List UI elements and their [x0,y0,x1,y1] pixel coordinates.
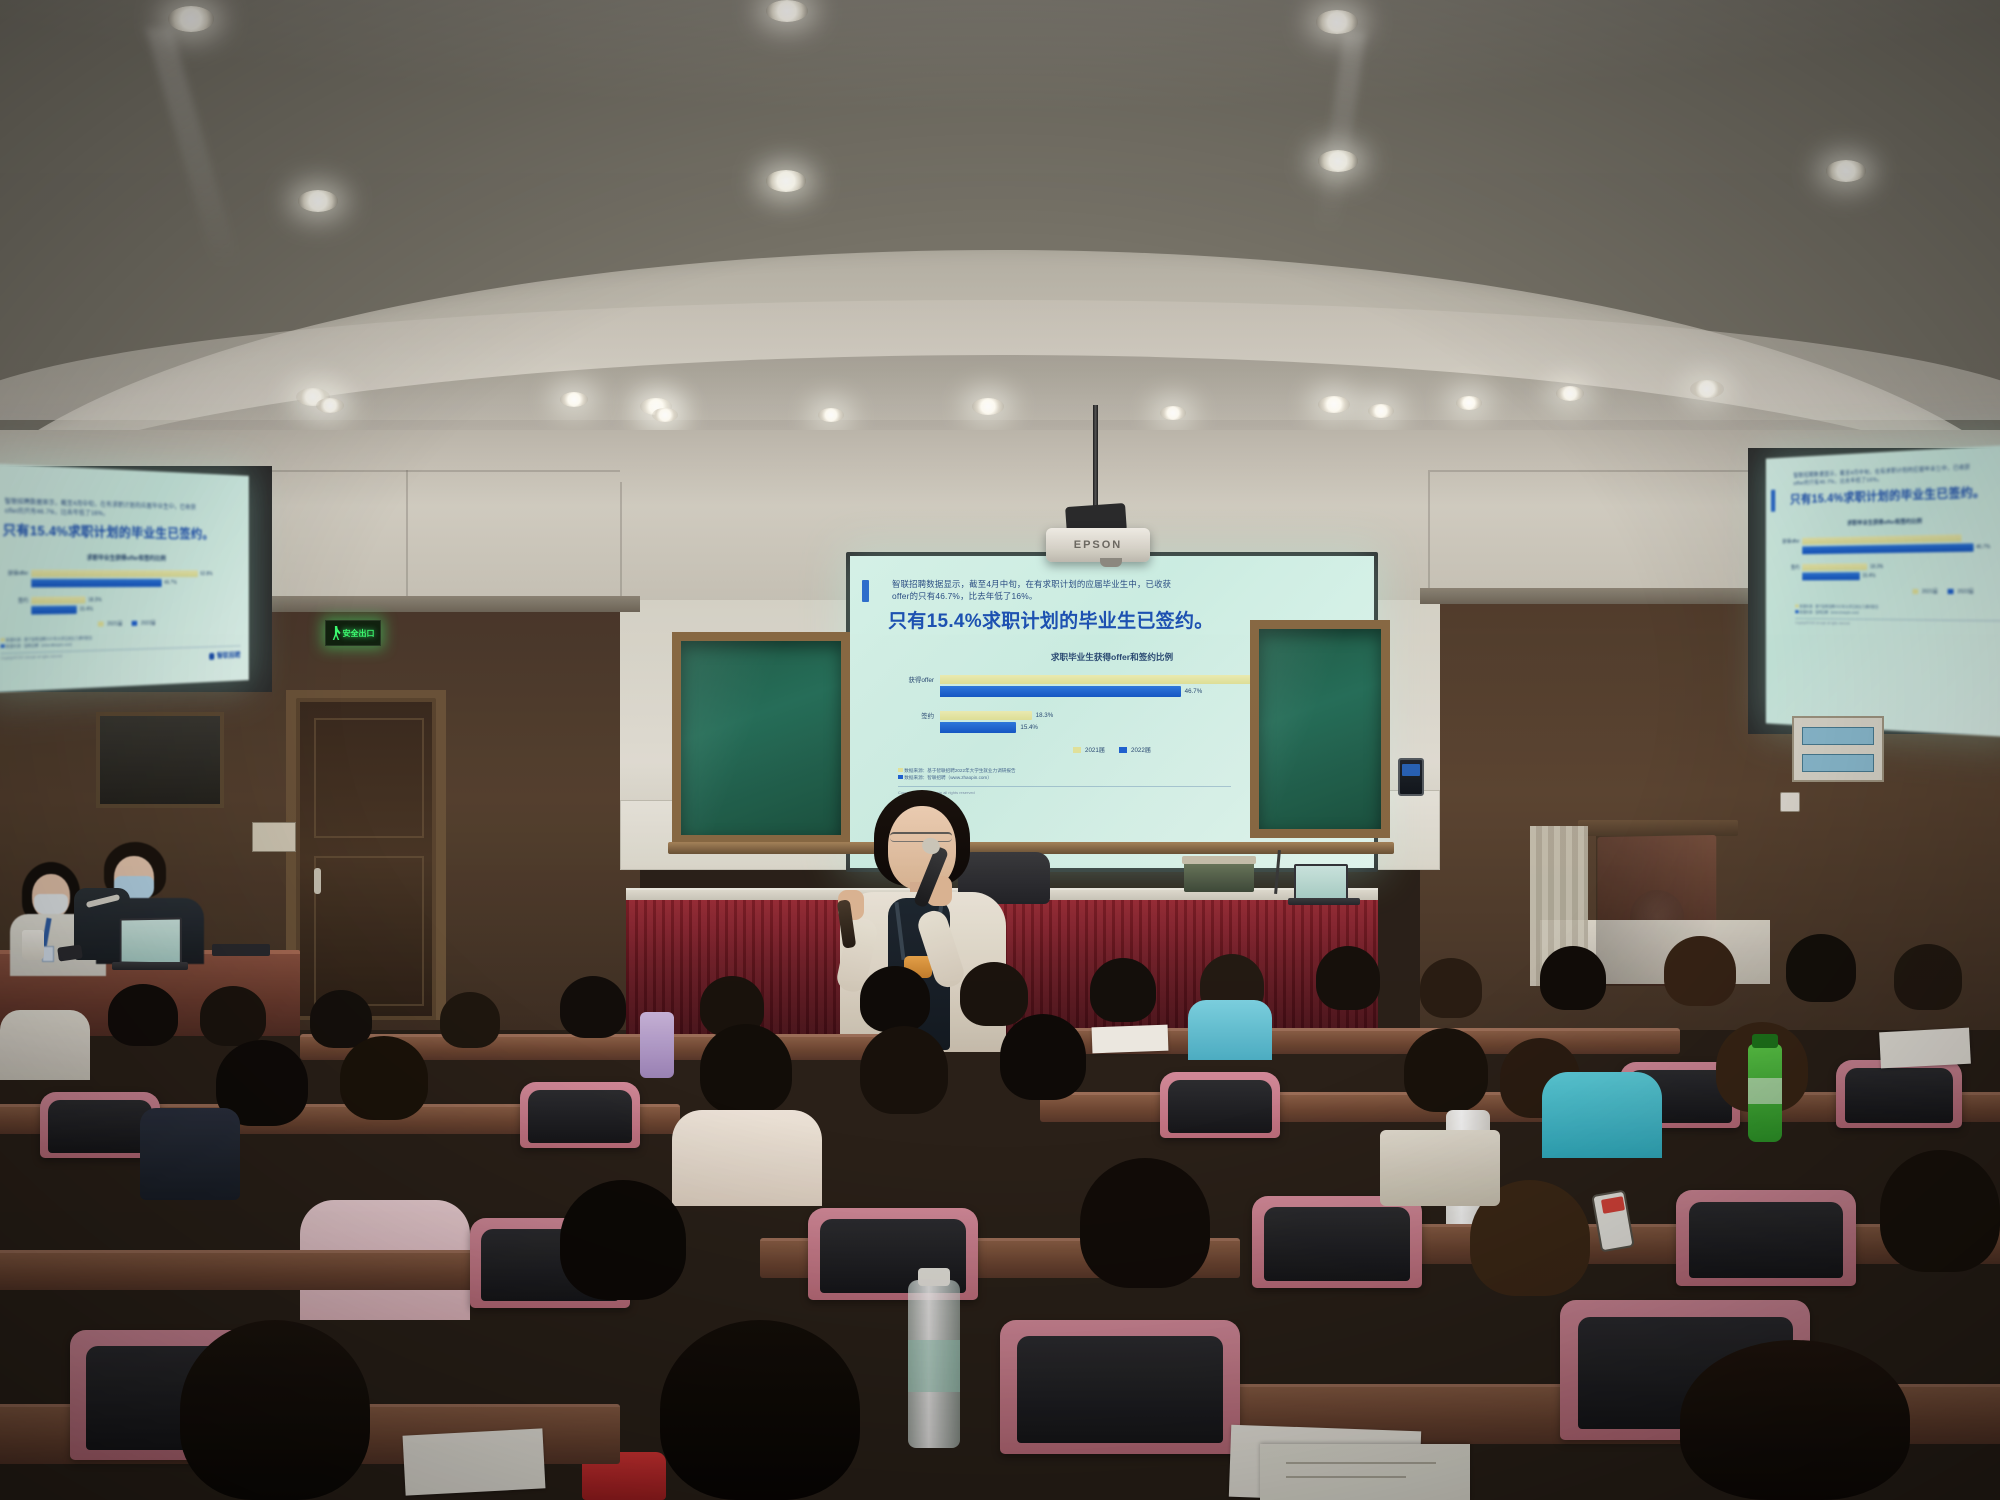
bar-category-label: 签约 [1774,564,1802,571]
audience-member [860,1026,948,1124]
wall-seam [620,482,622,612]
slide-chart-title: 求职毕业生获得offer和签约比例 [1774,515,2000,529]
staff-laptop-screen[interactable] [120,917,182,964]
bar-value: 15.4% [1862,573,1875,579]
auditorium-seat[interactable] [1836,1060,1962,1128]
notebook-line [1286,1476,1406,1478]
bar-category-label: 签约 [886,711,940,720]
slide-headline: 只有15.4%求职计划的毕业生已签约。 [3,519,241,543]
audience-member [560,976,626,1048]
slide-subtitle-line2: offer的只有46.7%，比去年低了16%。 [892,590,1348,602]
notebook-line [1286,1462,1436,1464]
legend-label: 2021届 [107,620,122,627]
speaker-glasses [890,832,952,842]
bar-value-2022-signed: 15.4% [1020,724,1038,731]
wall-seam [406,470,408,610]
audience-jacket [1188,1000,1272,1060]
bar-2021-offer [940,675,1253,684]
legend-swatch-2022 [1119,747,1127,753]
notice-line-2 [1802,754,1874,772]
ceiling-light [1160,406,1186,420]
water-bottle-label [908,1340,960,1392]
slide-subtitle-line1: 智联招聘数据显示，截至4月中旬，在有求职计划的应届毕业生中，已收获 [892,578,1348,590]
audience-member [1000,1014,1086,1110]
ceiling-light [1368,404,1394,418]
footnote-2: 数据来源：智联招聘（www.zhaopin.com） [904,775,992,780]
podium-sign [1578,820,1738,836]
books-stack-top [1182,856,1256,864]
ceiling-light [766,170,806,192]
audience-hoodie-cream [672,1110,822,1206]
staff-laptop-base[interactable] [112,962,188,970]
legend-entry-2022: 2022届 [1119,745,1151,754]
bar-category-label: 获得offer [1774,538,1802,545]
audience-hoodie-teal [1542,1072,1662,1158]
bar-category-label: 获得offer [1,570,32,577]
water-bottle-cap [918,1268,950,1286]
green-bottle-cap [1752,1034,1778,1048]
running-person-icon [332,626,341,640]
tote-bag [1380,1130,1500,1206]
audience-member [1080,1158,1210,1298]
slide-accent-bar [862,580,869,602]
slide-copyright: Copyright©2022 zhaopin all rights reserv… [1795,621,2000,629]
projector-lens [1100,558,1122,567]
bar-value: 46.7% [164,580,177,586]
ceiling-light [1556,386,1584,401]
ceiling-light [818,408,844,422]
legend-swatch-2021 [1073,747,1081,753]
projector-brand-label: EPSON [1074,539,1123,551]
legend-label: 2021届 [1922,588,1938,595]
audience-member [700,1024,792,1124]
right-slide: 智联招聘数据显示，截至4月中旬，在有求职计划的应届毕业生中，已收获 offer的… [1766,445,2000,738]
stage-laptop-screen[interactable] [1294,864,1348,902]
left-projection-screen: 智联招聘数据显示，截至4月中旬，在有求职计划的应届毕业生中，已收获 offer的… [0,463,249,692]
digital-display-screen [1402,764,1420,776]
left-slide: 智联招聘数据显示，截至4月中旬，在有求职计划的应届毕业生中，已收获 offer的… [0,463,249,692]
wall-notice-board [1792,716,1884,782]
bar-value: 15.4% [79,607,93,613]
left-slide-legend: 2021届 2022届 [1,618,241,630]
ceiling-light [1456,396,1482,410]
audience-member [1880,1150,2000,1280]
footnote: 数据来源：智联招聘（www.zhaopin.com） [1800,610,1862,614]
bar-value: 62.8% [200,571,212,577]
footnote: 数据来源：基于智联招聘2022年大学生就业力调研报告 [1800,605,1879,609]
wall-switch[interactable] [1780,792,1800,812]
ceiling-light [652,408,678,422]
audience-member [1540,946,1606,1020]
footnote-1: 数据来源：基于智联招聘2022年大学生就业力调研报告 [904,768,1015,773]
stage-laptop-base[interactable] [1288,898,1360,905]
projector-body: EPSON [1046,528,1150,562]
ceiling-light [1318,150,1358,172]
handout-paper [403,1428,546,1495]
green-bottle-label [1748,1078,1782,1104]
audience-member [108,984,178,1054]
desk-row-near [0,1250,530,1290]
door-panel-upper [314,718,424,838]
legend-entry-2021: 2021届 [1073,745,1105,754]
door-handle[interactable] [314,868,321,894]
bar-category-label: 签约 [1,597,32,605]
audience-member [1316,946,1380,1020]
auditorium-seat[interactable] [1000,1320,1240,1454]
door-side-window [96,712,224,808]
audience-member [340,1036,428,1130]
legend-label-2021: 2021届 [1085,745,1105,754]
emergency-exit-sign: 安全出口 [325,620,381,646]
legend-label: 2022届 [141,620,156,627]
ceiling-light [1826,160,1866,182]
footnote: 数据来源：智联招聘（www.zhaopin.com） [6,642,75,648]
audience-jacket [0,1010,90,1080]
handout-paper [1879,1028,1971,1069]
staff-coffee-cup [22,930,44,960]
ceiling-light [316,398,344,413]
bar-value: 18.3% [88,597,102,603]
ceiling-light [1690,380,1724,398]
auditorium-seat[interactable] [1160,1072,1280,1138]
handout-paper [1092,1025,1169,1054]
ceiling-light [168,6,214,32]
bar-2022-offer [940,686,1181,697]
lecture-hall-photo: 智联招聘数据显示，截至4月中旬，在有求职计划的应届毕业生中，已收获 offer的… [0,0,2000,1500]
notice-line-1 [1802,727,1874,745]
bar-2022-signed [940,722,1016,733]
exit-sign-text: 安全出口 [343,628,375,639]
audience-member [1664,936,1736,1016]
books-stack [1184,862,1254,892]
auditorium-seat[interactable] [520,1082,640,1148]
bar-value-2021-signed: 18.3% [1036,712,1054,719]
audience-member-foreground [1680,1340,1910,1500]
face-mask [34,894,68,914]
right-projection-screen: 智联招聘数据显示，截至4月中旬，在有求职计划的应届毕业生中，已收获 offer的… [1766,445,2000,738]
wall-notice-left [252,822,296,852]
left-slide-chart: 获得offer 62.8% 46.7% 签约 18.3% [1,570,241,615]
purple-bottle [640,1012,674,1078]
door-panel-lower [314,856,424,1006]
chalkboard-right [1250,620,1390,838]
ceiling-light [1316,10,1358,34]
auditorium-seat[interactable] [1252,1196,1422,1288]
ceiling-light [972,398,1004,415]
ceiling-light [1318,396,1350,413]
audience-member [1090,958,1156,1032]
backpack-on-desk [140,1108,240,1200]
right-slide-legend: 2021届 2022届 [1774,588,2000,595]
legend-label-2022: 2022届 [1131,745,1151,754]
bar-value: 18.3% [1870,564,1883,570]
left-slide-logo: 智联招聘 [209,650,240,661]
legend-label: 2022届 [1957,588,1973,595]
right-slide-chart: 获得offer 46.7% 签约 18.3% [1774,534,2000,581]
bar-category-label: 获得offer [886,675,940,684]
footnote: 数据来源：基于智联招聘2022年大学生就业力调研报告 [6,636,92,642]
logo-text: 智联招聘 [217,650,241,660]
audience-member [1894,944,1962,1020]
bar-2021-signed [940,711,1032,720]
audience-member [440,992,500,1056]
slide-chart-title: 求职毕业生获得offer和签约比例 [1,552,241,563]
audience-member [1404,1028,1488,1120]
staff-notebook [212,944,270,956]
bar-value-2022-offer: 46.7% [1185,688,1203,695]
ceiling-light [298,190,338,212]
projector-ceiling-rod [1093,405,1098,513]
auditorium-seat[interactable] [1676,1190,1856,1286]
audience-member [1786,934,1856,1012]
audience-member-foreground [660,1320,860,1500]
entrance-door[interactable] [296,698,436,1020]
right-slide-footnotes: 数据来源：基于智联招聘2022年大学生就业力调研报告 数据来源：智联招聘（www… [1774,605,2000,629]
audience-member [1420,958,1482,1028]
notebook-open [1260,1444,1470,1500]
ceiling-light [560,392,588,407]
audience-member-foreground [180,1320,370,1500]
bar-value: 46.7% [1976,544,1990,550]
ceiling-light [766,0,808,22]
audience-member [560,1180,686,1310]
